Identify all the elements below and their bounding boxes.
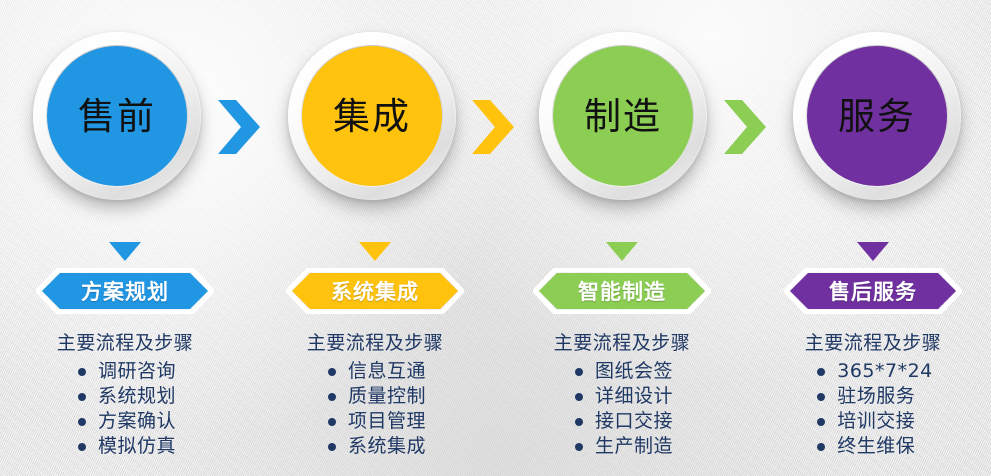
step-item: 系统规划 xyxy=(74,384,176,409)
step-item: 模拟仿真 xyxy=(74,434,176,459)
step-item: 调研咨询 xyxy=(74,359,176,384)
circle-disc: 制造 xyxy=(553,46,693,186)
circle-disc: 集成 xyxy=(302,46,442,186)
triangle-down-icon xyxy=(606,242,638,261)
stage-column-service: 售后服务 主要流程及步骤 365*7*24驻场服务培训交接终生维保 xyxy=(748,236,991,459)
step-item: 项目管理 xyxy=(324,409,426,434)
circle-label: 制造 xyxy=(584,98,662,135)
stage-badge-label: 系统集成 xyxy=(286,268,464,314)
step-item: 终生维保 xyxy=(813,434,933,459)
list-heading: 主要流程及步骤 xyxy=(497,328,747,355)
stage-circle-manufacturing[interactable]: 制造 xyxy=(539,32,707,200)
list-heading: 主要流程及步骤 xyxy=(748,328,991,355)
stage-badge-presales[interactable]: 方案规划 xyxy=(36,268,214,314)
stage-badge-manufacturing[interactable]: 智能制造 xyxy=(533,268,711,314)
step-item: 方案确认 xyxy=(74,409,176,434)
stage-column-integration: 系统集成 主要流程及步骤 信息互通质量控制项目管理系统集成 xyxy=(250,236,500,459)
stage-badge-label: 智能制造 xyxy=(533,268,711,314)
chevron-right-icon xyxy=(470,98,516,156)
steps-list: 信息互通质量控制项目管理系统集成 xyxy=(324,359,426,459)
triangle-down-icon xyxy=(109,242,141,261)
circle-label: 集成 xyxy=(333,98,411,135)
step-item: 详细设计 xyxy=(571,384,673,409)
step-item: 驻场服务 xyxy=(813,384,933,409)
stage-details-row: 方案规划 主要流程及步骤 调研咨询系统规划方案确认模拟仿真 系统集成 主要流程及… xyxy=(0,236,991,476)
steps-list: 365*7*24驻场服务培训交接终生维保 xyxy=(813,359,933,459)
chevron-right-icon xyxy=(722,98,768,156)
circle-disc: 服务 xyxy=(807,46,947,186)
chevron-right-icon xyxy=(216,98,262,156)
step-item: 生产制造 xyxy=(571,434,673,459)
process-diagram: 售前 集成 制造 服务 xyxy=(0,0,991,476)
triangle-down-icon xyxy=(857,242,889,261)
stage-circle-service[interactable]: 服务 xyxy=(793,32,961,200)
step-item: 365*7*24 xyxy=(813,359,933,384)
stage-column-manufacturing: 智能制造 主要流程及步骤 图纸会签详细设计接口交接生产制造 xyxy=(497,236,747,459)
circle-disc: 售前 xyxy=(47,46,187,186)
stage-badge-service[interactable]: 售后服务 xyxy=(784,268,962,314)
stage-circle-integration[interactable]: 集成 xyxy=(288,32,456,200)
stage-circle-presales[interactable]: 售前 xyxy=(33,32,201,200)
triangle-down-icon xyxy=(359,242,391,261)
step-item: 系统集成 xyxy=(324,434,426,459)
step-item: 质量控制 xyxy=(324,384,426,409)
steps-list: 调研咨询系统规划方案确认模拟仿真 xyxy=(74,359,176,459)
list-heading: 主要流程及步骤 xyxy=(250,328,500,355)
stage-circles-row: 售前 集成 制造 服务 xyxy=(0,0,991,236)
step-item: 培训交接 xyxy=(813,409,933,434)
stage-badge-label: 方案规划 xyxy=(36,268,214,314)
circle-label: 售前 xyxy=(78,98,156,135)
list-heading: 主要流程及步骤 xyxy=(0,328,250,355)
step-item: 图纸会签 xyxy=(571,359,673,384)
steps-list: 图纸会签详细设计接口交接生产制造 xyxy=(571,359,673,459)
stage-column-presales: 方案规划 主要流程及步骤 调研咨询系统规划方案确认模拟仿真 xyxy=(0,236,250,459)
stage-badge-integration[interactable]: 系统集成 xyxy=(286,268,464,314)
circle-label: 服务 xyxy=(838,98,916,135)
stage-badge-label: 售后服务 xyxy=(784,268,962,314)
step-item: 信息互通 xyxy=(324,359,426,384)
step-item: 接口交接 xyxy=(571,409,673,434)
